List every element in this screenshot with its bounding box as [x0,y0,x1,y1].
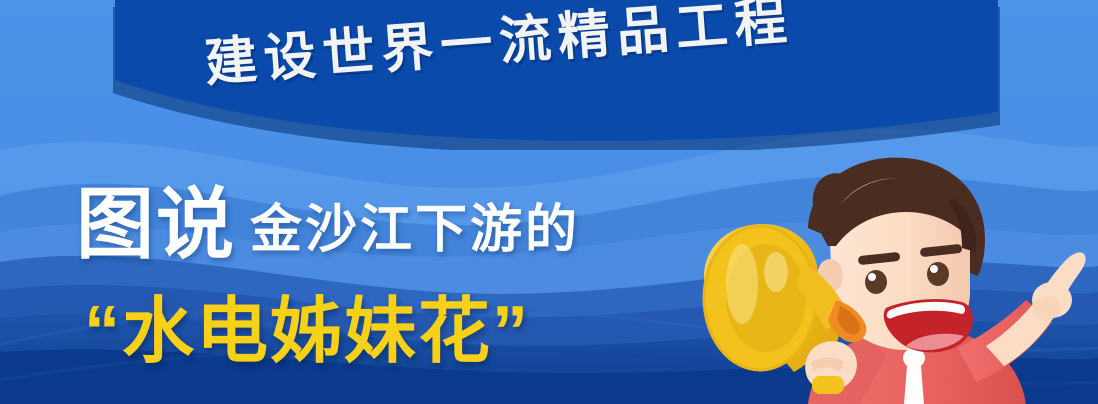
mascot-illustration [690,150,1098,404]
headline-emphasis: 图说 [76,186,236,262]
poster-banner: 建设世界一流精品工程 图说 金沙江下游的 “水电姊妹花” [0,0,1098,404]
mascot-pointing-hand [986,252,1086,366]
subtitle: “水电姊妹花” [84,296,530,368]
headline-rest: 金沙江下游的 [250,202,580,262]
ribbon-header: 建设世界一流精品工程 [0,0,1098,150]
headline: 图说 金沙江下游的 [76,186,580,262]
